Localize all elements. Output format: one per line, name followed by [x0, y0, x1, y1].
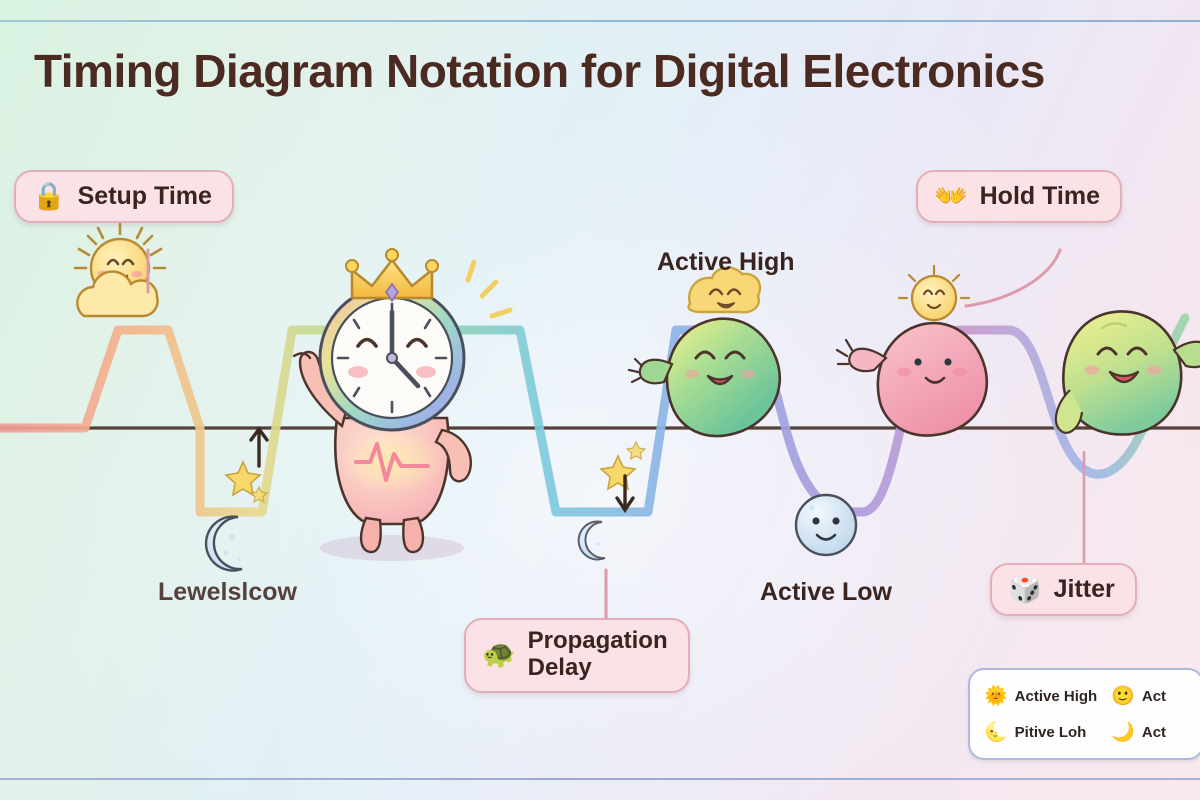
label-active-high: Active High: [657, 248, 795, 277]
page-title: Timing Diagram Notation for Digital Elec…: [34, 44, 1174, 98]
waveform-path: [0, 318, 1185, 512]
propagation-doodles: [601, 442, 645, 510]
dice-icon: 🎲: [1008, 576, 1042, 603]
open-hands-icon: 👐: [934, 183, 968, 210]
callout-jitter-label: Jitter: [1054, 575, 1115, 603]
legend-item-positive-low: 🌜 Pitive Loh: [984, 715, 1097, 749]
callout-hold-time[interactable]: 👐 Hold Time: [916, 170, 1122, 223]
label-level-low: Lewelslcow: [158, 578, 297, 607]
leader-hold: [966, 250, 1060, 306]
legend-item-active-fourth: 🌙 Act: [1111, 715, 1192, 749]
callout-hold-time-label: Hold Time: [980, 182, 1100, 210]
turtle-icon: 🐢: [482, 641, 516, 668]
smiley-icon: 🙂: [1111, 687, 1135, 706]
callout-setup-time[interactable]: 🔒 Setup Time: [14, 170, 234, 223]
pink-blob-character: [837, 266, 1001, 449]
sun-icon: 🌞: [984, 687, 1008, 706]
legend-label-1: Act: [1142, 688, 1166, 705]
sun-cloud-character: [75, 224, 165, 316]
callout-jitter[interactable]: 🎲 Jitter: [990, 563, 1137, 616]
legend-label-2: Pitive Loh: [1015, 724, 1087, 741]
label-active-low: Active Low: [760, 578, 892, 607]
legend-item-active-second: 🙂 Act: [1111, 679, 1192, 713]
legend-item-active-high: 🌞 Active High: [984, 679, 1097, 713]
legend-box: 🌞 Active High 🙂 Act 🌜 Pitive Loh 🌙 Act: [968, 668, 1200, 760]
planet-face-character: [796, 495, 856, 555]
lock-icon: 🔒: [32, 183, 66, 210]
rising-edge-doodles: [226, 429, 267, 502]
callout-setup-time-label: Setup Time: [78, 182, 212, 210]
legend-label-0: Active High: [1015, 688, 1098, 705]
small-moon-character: [579, 521, 605, 559]
moon-face-icon: 🌜: [984, 723, 1008, 742]
callout-propagation-delay-label: Propagation Delay: [528, 628, 668, 682]
green-blob-character: [629, 268, 798, 453]
callout-propagation-delay[interactable]: 🐢 Propagation Delay: [464, 618, 690, 693]
moon-icon: 🌙: [1111, 723, 1135, 742]
legend-label-3: Act: [1142, 724, 1166, 741]
crescent-moon-character: [206, 517, 242, 571]
diagram-canvas: Timing Diagram Notation for Digital Elec…: [0, 0, 1200, 800]
clock-king-character: [294, 249, 510, 561]
